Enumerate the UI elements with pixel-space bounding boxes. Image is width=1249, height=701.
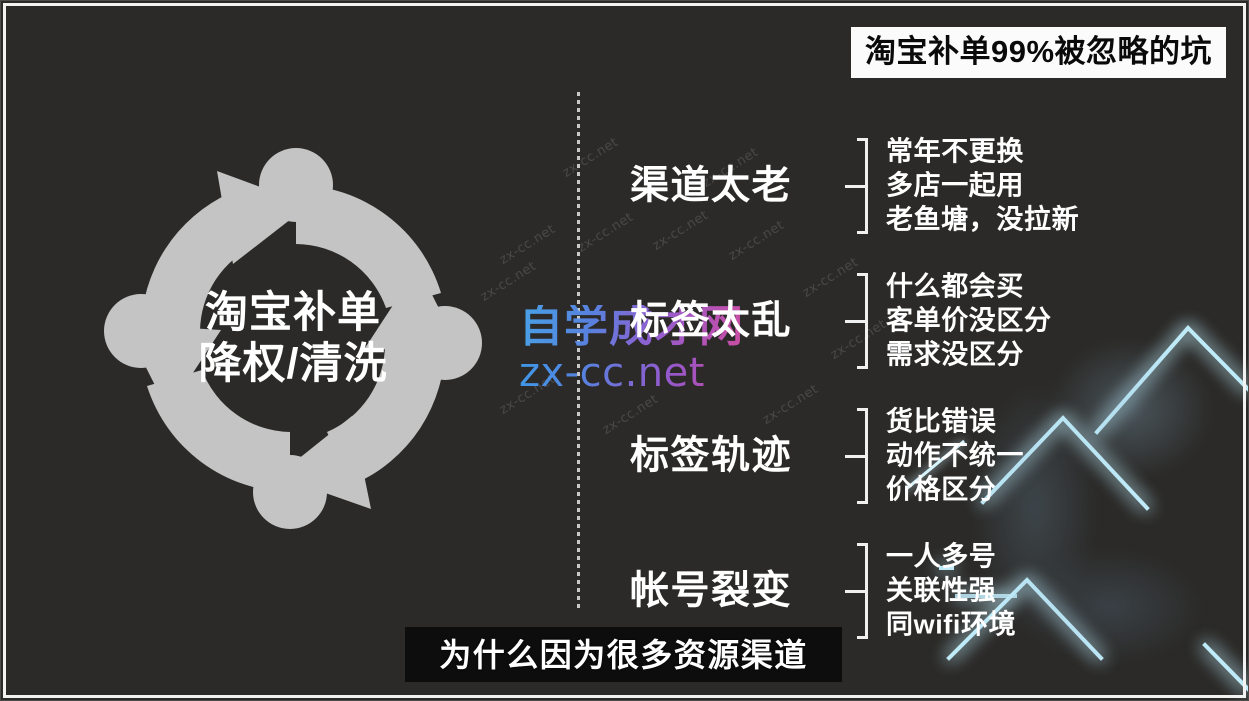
problem-row-label: 标签轨迹 — [630, 436, 792, 475]
bracket-icon — [853, 543, 871, 639]
problem-row-item: 动作不统一 — [886, 438, 1024, 472]
bracket-tick-top — [857, 408, 868, 411]
problem-row-item: 什么都会买 — [886, 269, 1052, 303]
problem-row: 标签轨迹货比错误动作不统一价格区分 — [600, 388, 1100, 523]
watermark-tile: zx-cc.net — [497, 222, 558, 268]
bracket-tick-top — [857, 138, 868, 141]
watermark-tile: zx-cc.net — [478, 259, 539, 305]
problem-row-item: 同wifi环境 — [886, 608, 1016, 642]
bracket-tick-bottom — [857, 366, 868, 369]
problem-rows-list: 渠道太老常年不更换多店一起用老鱼塘，没拉新标签太乱什么都会买客单价没区分需求没区… — [600, 118, 1100, 658]
problem-row: 渠道太老常年不更换多店一起用老鱼塘，没拉新 — [600, 118, 1100, 253]
problem-row-item: 需求没区分 — [886, 338, 1052, 372]
caption-text: 为什么因为很多资源渠道 — [439, 639, 808, 671]
problem-row-item: 多店一起用 — [886, 168, 1079, 202]
cycle-diagram: 淘宝补单 降权/清洗 — [104, 148, 482, 530]
problem-row-items: 常年不更换多店一起用老鱼塘，没拉新 — [886, 134, 1079, 237]
problem-row-item: 常年不更换 — [886, 134, 1079, 168]
neon-chevron-6 — [1205, 645, 1249, 690]
bracket-vertical — [865, 273, 868, 369]
bracket-vertical — [865, 408, 868, 504]
bracket-tick-top — [857, 543, 868, 546]
cycle-center-line-2: 降权/清洗 — [199, 339, 388, 390]
problem-row-items: 一人多号关联性强同wifi环境 — [886, 539, 1016, 642]
problem-row-item: 关联性强 — [886, 573, 1016, 607]
vertical-dotted-divider — [577, 92, 580, 612]
problem-row-item: 一人多号 — [886, 539, 1016, 573]
neon-chevron-2 — [1097, 328, 1249, 432]
page-title: 淘宝补单99%被忽略的坑 — [865, 35, 1212, 68]
cycle-center-label: 淘宝补单 降权/清洗 — [104, 148, 482, 530]
bracket-vertical — [865, 138, 868, 234]
bracket-tick-middle — [845, 590, 865, 593]
bracket-tick-bottom — [857, 636, 868, 639]
bracket-icon — [853, 138, 871, 234]
bracket-tick-middle — [845, 455, 865, 458]
bracket-icon — [853, 273, 871, 369]
problem-row-item: 货比错误 — [886, 404, 1024, 438]
problem-row-label: 标签太乱 — [630, 301, 792, 340]
title-box: 淘宝补单99%被忽略的坑 — [851, 27, 1226, 78]
problem-row-item: 客单价没区分 — [886, 303, 1052, 337]
problem-row-item: 老鱼塘，没拉新 — [886, 203, 1079, 237]
caption-box: 为什么因为很多资源渠道 — [405, 627, 842, 682]
watermark-tile: zx-cc.net — [497, 372, 558, 418]
problem-row-item: 价格区分 — [886, 473, 1024, 507]
problem-row-items: 货比错误动作不统一价格区分 — [886, 404, 1024, 507]
problem-row-label: 渠道太老 — [630, 166, 792, 205]
problem-row-label: 帐号裂变 — [630, 571, 792, 610]
problem-row-items: 什么都会买客单价没区分需求没区分 — [886, 269, 1052, 372]
bracket-tick-top — [857, 273, 868, 276]
bracket-tick-bottom — [857, 231, 868, 234]
bracket-tick-middle — [845, 185, 865, 188]
bracket-tick-bottom — [857, 501, 868, 504]
cycle-center-line-1: 淘宝补单 — [205, 288, 381, 339]
problem-row: 标签太乱什么都会买客单价没区分需求没区分 — [600, 253, 1100, 388]
bracket-icon — [853, 408, 871, 504]
slide-canvas: 淘宝补单 降权/清洗 zx-cc.netzx-cc.netzx-cc.netzx… — [0, 0, 1249, 701]
bracket-vertical — [865, 543, 868, 639]
bracket-tick-middle — [845, 320, 865, 323]
